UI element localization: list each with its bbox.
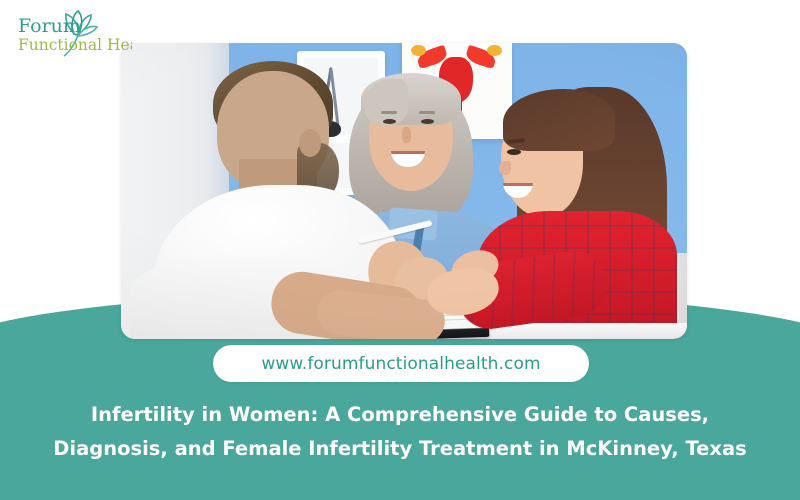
hero-photo bbox=[121, 43, 687, 339]
headline-line-1: Infertility in Women: A Comprehensive Gu… bbox=[40, 398, 760, 432]
logo-word-functional-health: Functional Health bbox=[18, 36, 132, 54]
photo-doctor-brow-right bbox=[419, 111, 435, 114]
photo-partner-ear bbox=[299, 129, 321, 157]
website-url-text: www.forumfunctionalhealth.com bbox=[261, 354, 540, 374]
photo-ovary-right bbox=[487, 45, 502, 56]
brand-logo[interactable]: Forum Functional Health bbox=[12, 8, 132, 60]
photo-patient-eye bbox=[507, 149, 521, 155]
banner-canvas: Forum Functional Health bbox=[0, 0, 800, 500]
website-url-pill[interactable]: www.forumfunctionalhealth.com bbox=[213, 345, 589, 382]
photo-ovary-left bbox=[411, 45, 426, 56]
photo-doctor-eye-left bbox=[383, 119, 396, 124]
photo-doctor-eye-right bbox=[421, 119, 434, 124]
photo-doctor-nose bbox=[402, 127, 411, 143]
photo-doctor-brow-left bbox=[381, 111, 397, 114]
logo-word-forum: Forum bbox=[18, 15, 81, 37]
photo-patient-nose bbox=[499, 161, 511, 175]
headline-line-2: Diagnosis, and Female Infertility Treatm… bbox=[40, 432, 760, 466]
banner-headline: Infertility in Women: A Comprehensive Gu… bbox=[40, 398, 760, 466]
